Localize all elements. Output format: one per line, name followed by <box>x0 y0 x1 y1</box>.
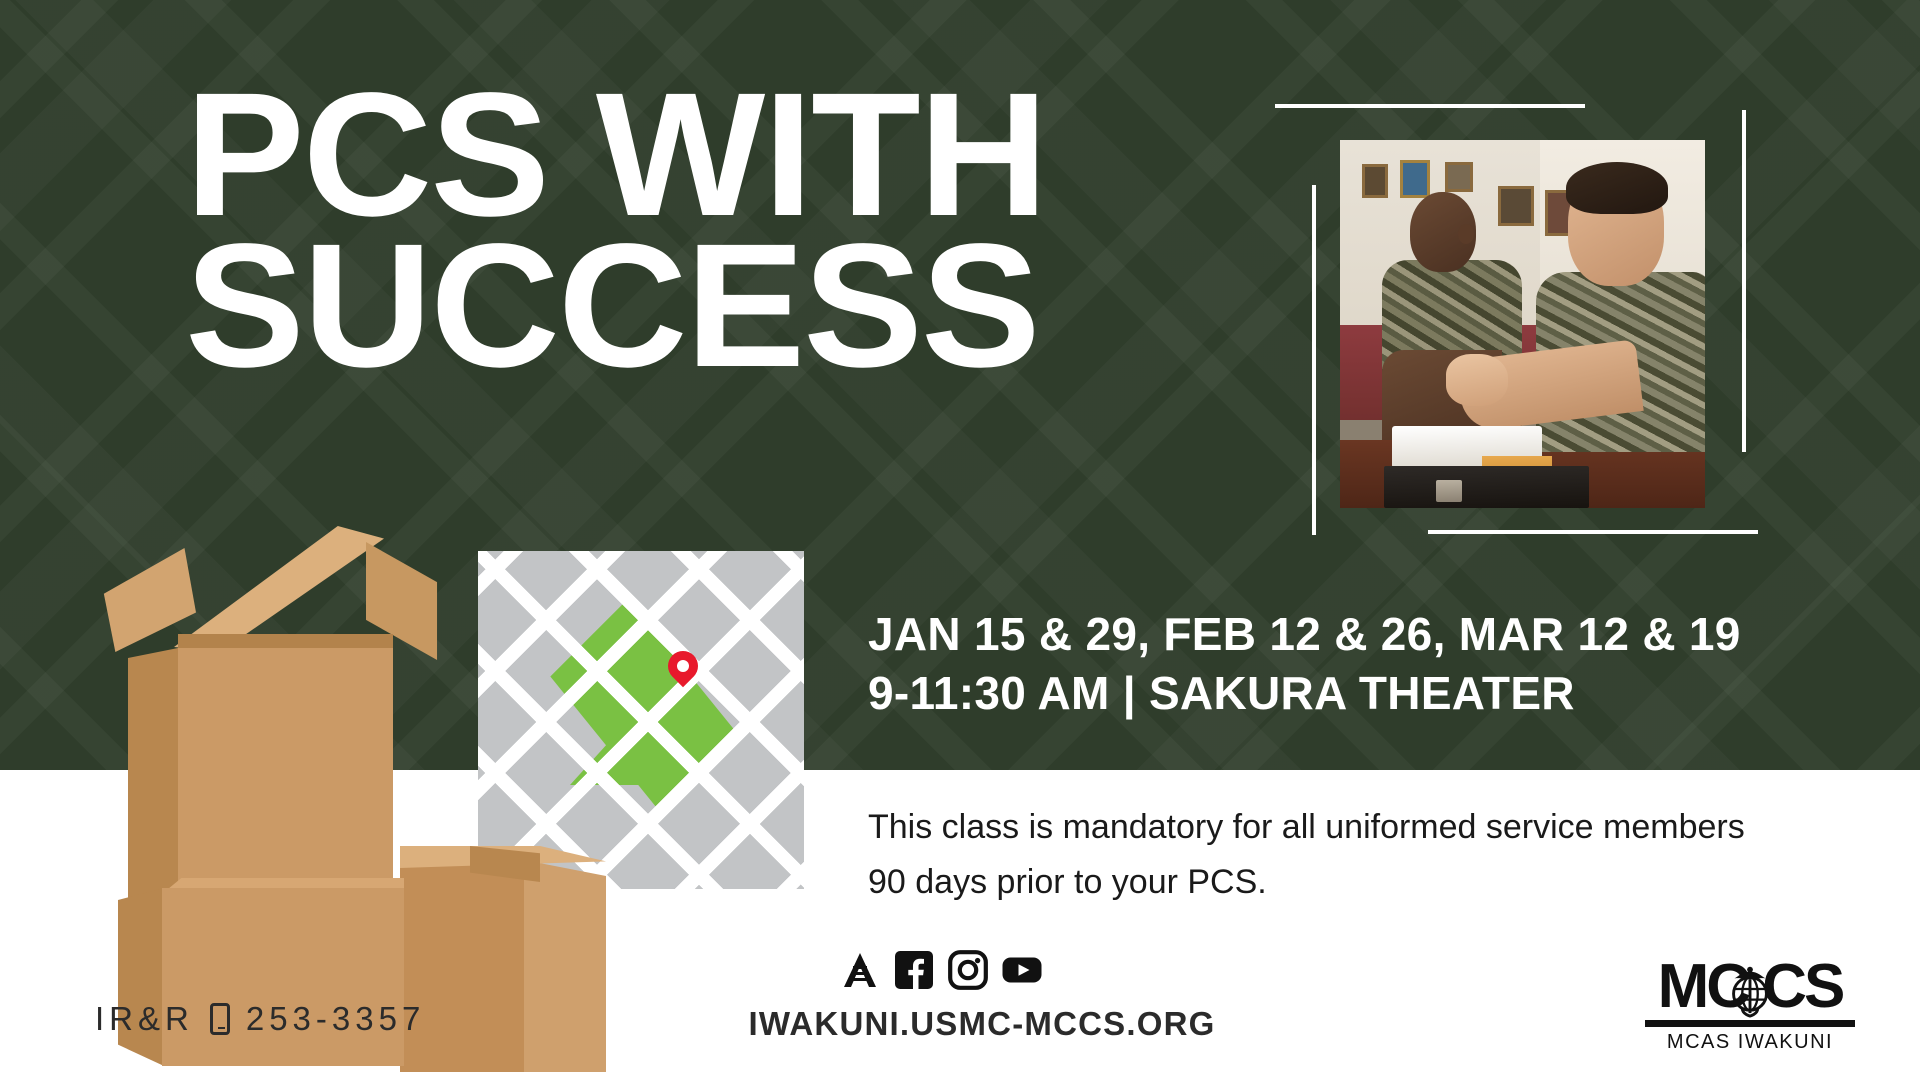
photo-binder <box>1384 466 1589 508</box>
youtube-icon[interactable] <box>1002 950 1042 990</box>
schedule-block: JAN 15 & 29, FEB 12 & 26, MAR 12 & 19 9-… <box>868 605 1888 723</box>
photo-wall-picture-3 <box>1445 162 1473 192</box>
photo-wall-picture-2 <box>1400 160 1430 198</box>
eagle-globe-anchor-icon <box>1721 960 1779 1018</box>
marines-paperwork-photo <box>1340 140 1705 508</box>
photo-wall-picture-4 <box>1498 186 1534 226</box>
contact-phone-line: IR&R 253-3357 <box>95 1000 425 1038</box>
page-title: PCS WITH SUCCESS <box>185 80 1287 383</box>
headline-line-2: SUCCESS <box>185 231 1287 382</box>
photo-wall-picture-1 <box>1362 164 1388 198</box>
website-url[interactable]: IWAKUNI.USMC-MCCS.ORG <box>722 1005 1242 1043</box>
box-bottom-left-side <box>118 888 164 1066</box>
poster-canvas: PCS WITH SUCCESS JAN 15 & 29, FEB 12 & 2… <box>0 0 1920 1080</box>
schedule-dates: JAN 15 & 29, FEB 12 & 26, MAR 12 & 19 <box>868 605 1888 664</box>
photo-marine-background-ear <box>1458 224 1474 244</box>
facebook-icon[interactable] <box>894 950 934 990</box>
frame-bracket-left-line <box>1312 185 1316 535</box>
body-copy-line-1: This class is mandatory for all uniforme… <box>868 800 1878 855</box>
map-road-grid <box>478 551 804 889</box>
department-label: IR&R <box>95 1000 194 1038</box>
photo-marine-foreground-hand <box>1446 354 1508 406</box>
schedule-time-venue: 9-11:30 AM | SAKURA THEATER <box>868 664 1888 723</box>
phone-number[interactable]: 253-3357 <box>246 1000 425 1038</box>
box-right-side <box>524 860 606 1072</box>
mccs-logo: MC CS MCAS IWAKUNI <box>1640 958 1860 1054</box>
body-copy-line-2: 90 days prior to your PCS. <box>868 855 1878 910</box>
frame-bracket-top-line <box>1275 104 1585 108</box>
frame-bracket-bottom-line <box>1428 530 1758 534</box>
body-copy: This class is mandatory for all uniforme… <box>868 800 1878 910</box>
photo-binder-clasp <box>1436 480 1462 502</box>
social-media-row <box>840 950 1042 990</box>
mccs-logo-subtitle: MCAS IWAKUNI <box>1640 1031 1860 1054</box>
mccs-wordmark: MC CS <box>1640 958 1860 1017</box>
app-icon[interactable] <box>840 950 880 990</box>
photo-marine-foreground-hair <box>1566 162 1668 214</box>
instagram-icon[interactable] <box>948 950 988 990</box>
frame-bracket-right-line <box>1742 110 1746 452</box>
phone-icon <box>210 1003 230 1035</box>
map-graphic <box>478 551 804 889</box>
moving-boxes-map-illustration <box>100 520 840 980</box>
box-right-front <box>400 860 530 1072</box>
box-bottom-left-front <box>162 888 404 1066</box>
